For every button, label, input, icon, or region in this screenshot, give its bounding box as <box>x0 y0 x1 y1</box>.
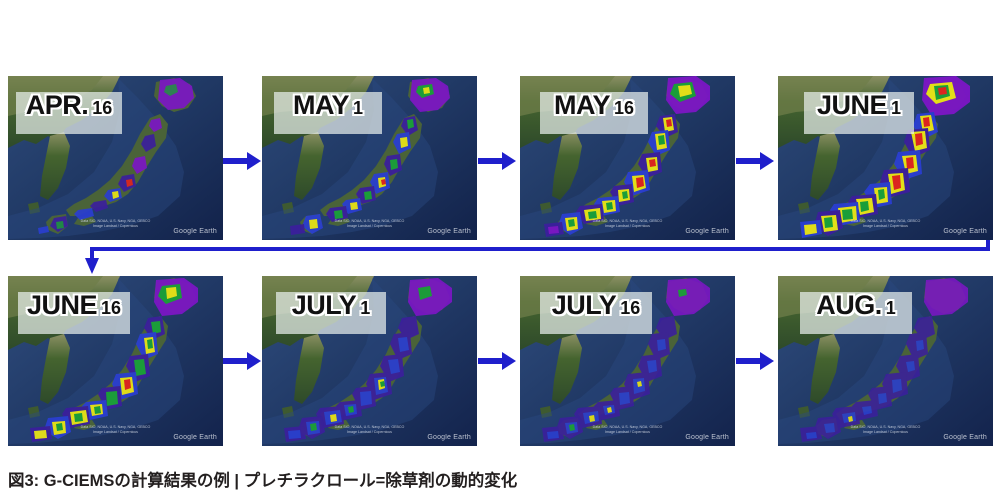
date-month-label: MAY <box>554 92 610 119</box>
date-plate-may-16: MAY 16 <box>540 92 648 134</box>
date-plate-aug-1: AUG. 1 <box>800 292 912 334</box>
map-panel-apr-16[interactable]: APR. 16 Data SIO, NOAA, U.S. Navy, NGA, … <box>8 76 223 240</box>
date-plate-july-16: JULY 16 <box>540 292 652 334</box>
date-day-label: 1 <box>886 299 896 317</box>
date-month-label: APR. <box>26 92 89 119</box>
map-attribution-text: Data SIO, NOAA, U.S. Navy, NGA, GEBCOIma… <box>851 219 921 229</box>
date-day-label: 1 <box>891 99 901 117</box>
google-earth-logo: Google Earth <box>173 434 217 441</box>
date-day-label: 16 <box>620 299 640 317</box>
map-attribution-text: Data SIO, NOAA, U.S. Navy, NGA, GEBCOIma… <box>593 219 663 229</box>
map-attribution-text: Data SIO, NOAA, U.S. Navy, NGA, GEBCOIma… <box>81 425 151 435</box>
map-panel-june-16[interactable]: JUNE 16 Data SIO, NOAA, U.S. Navy, NGA, … <box>8 276 223 446</box>
date-plate-may-1: MAY 1 <box>274 92 382 134</box>
map-panel-june-1[interactable]: JUNE 1 Data SIO, NOAA, U.S. Navy, NGA, G… <box>778 76 993 240</box>
map-panel-july-16[interactable]: JULY 16 Data SIO, NOAA, U.S. Navy, NGA, … <box>520 276 735 446</box>
date-month-label: JUNE <box>27 292 97 319</box>
date-month-label: AUG. <box>816 292 882 319</box>
date-day-label: 16 <box>614 99 634 117</box>
step-arrow-right-2 <box>478 150 518 172</box>
google-earth-logo: Google Earth <box>685 434 729 441</box>
step-arrow-right-4 <box>223 350 263 372</box>
date-day-label: 16 <box>92 99 112 117</box>
date-month-label: MAY <box>293 92 349 119</box>
date-month-label: JUNE <box>817 92 887 119</box>
google-earth-logo: Google Earth <box>685 228 729 235</box>
map-panel-may-16[interactable]: MAY 16 Data SIO, NOAA, U.S. Navy, NGA, G… <box>520 76 735 240</box>
date-plate-june-1: JUNE 1 <box>804 92 914 134</box>
map-attribution-text: Data SIO, NOAA, U.S. Navy, NGA, GEBCOIma… <box>335 219 405 229</box>
map-attribution-text: Data SIO, NOAA, U.S. Navy, NGA, GEBCOIma… <box>851 425 921 435</box>
map-panel-aug-1[interactable]: AUG. 1 Data SIO, NOAA, U.S. Navy, NGA, G… <box>778 276 993 446</box>
google-earth-logo: Google Earth <box>943 434 987 441</box>
date-month-label: JULY <box>292 292 357 319</box>
google-earth-logo: Google Earth <box>173 228 217 235</box>
date-day-label: 16 <box>101 299 121 317</box>
map-attribution-text: Data SIO, NOAA, U.S. Navy, NGA, GEBCOIma… <box>335 425 405 435</box>
step-arrow-right-3 <box>736 150 776 172</box>
step-arrow-right-6 <box>736 350 776 372</box>
date-month-label: JULY <box>552 292 617 319</box>
step-arrow-right-5 <box>478 350 518 372</box>
google-earth-logo: Google Earth <box>427 228 471 235</box>
date-plate-apr-16: APR. 16 <box>16 92 122 134</box>
date-plate-july-1: JULY 1 <box>276 292 386 334</box>
map-panel-may-1[interactable]: MAY 1 Data SIO, NOAA, U.S. Navy, NGA, GE… <box>262 76 477 240</box>
map-attribution-text: Data SIO, NOAA, U.S. Navy, NGA, GEBCOIma… <box>593 425 663 435</box>
map-attribution-text: Data SIO, NOAA, U.S. Navy, NGA, GEBCOIma… <box>81 219 151 229</box>
step-arrow-right-1 <box>223 150 263 172</box>
google-earth-logo: Google Earth <box>943 228 987 235</box>
google-earth-logo: Google Earth <box>427 434 471 441</box>
date-day-label: 1 <box>353 99 363 117</box>
date-plate-june-16: JUNE 16 <box>18 292 130 334</box>
map-panel-july-1[interactable]: JULY 1 Data SIO, NOAA, U.S. Navy, NGA, G… <box>262 276 477 446</box>
date-day-label: 1 <box>360 299 370 317</box>
figure-caption: 図3: G-CIEMSの計算結果の例 | プレチラクロール=除草剤の動的変化 <box>8 467 517 491</box>
figure-root: APR. 16 Data SIO, NOAA, U.S. Navy, NGA, … <box>0 0 1000 499</box>
